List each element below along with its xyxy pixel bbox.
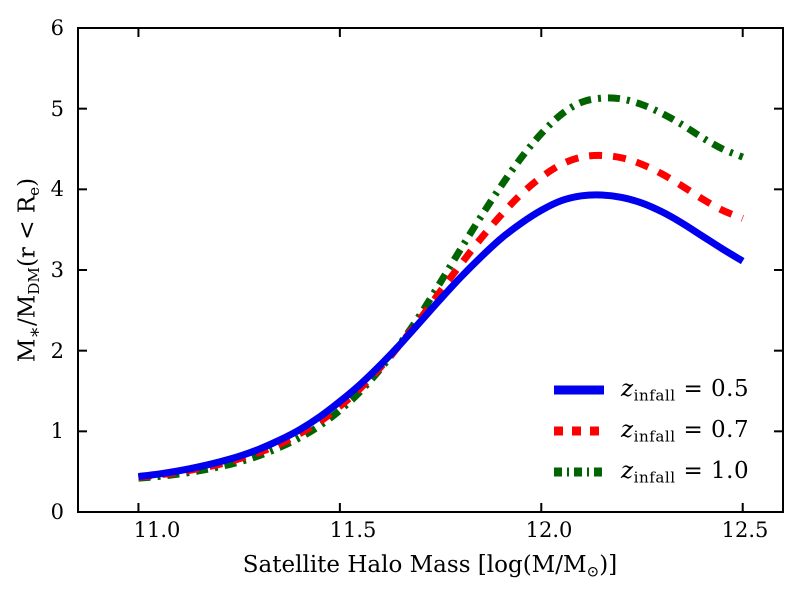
legend-value-2: = 1.0 — [683, 458, 749, 484]
legend-var-2: z — [621, 458, 634, 484]
y-axis-title-rest: (r < R — [15, 196, 41, 267]
xtick-label-12-0: 12.0 — [526, 518, 573, 542]
y-axis-title-close: ) — [15, 178, 41, 187]
x-axis-title: Satellite Halo Mass [log(M/M⊙)] — [243, 552, 617, 580]
ytick-label-6: 6 — [28, 16, 64, 40]
xtick-label-11-5: 11.5 — [330, 518, 377, 542]
x-axis-title-prefix: Satellite Halo Mass [log(M/M — [243, 552, 587, 578]
legend-label-0: zinfall = 0.5 — [621, 376, 749, 404]
legend-sub-2: infall — [634, 468, 676, 486]
legend-entry-2[interactable]: zinfall = 1.0 — [553, 455, 749, 489]
xtick-label-11-0: 11.0 — [134, 518, 181, 542]
ytick-label-1: 1 — [28, 419, 64, 443]
x-axis-title-suffix: )] — [599, 552, 617, 578]
legend-value-1: = 0.7 — [683, 417, 749, 443]
xtick-label-12-5: 12.5 — [722, 518, 769, 542]
figure-canvas: 6 5 4 3 2 1 0 11.0 11.5 12.0 12.5 Satell… — [0, 0, 800, 600]
ytick-label-5: 5 — [28, 97, 64, 121]
legend-label-1: zinfall = 0.7 — [621, 417, 749, 445]
legend-value-0: = 0.5 — [683, 376, 749, 402]
plot-area — [0, 0, 800, 600]
dashdot-line-swatch — [553, 463, 605, 481]
y-axis-title: M∗/MDM(r < Re) — [15, 178, 46, 362]
y-axis-title-slash: /M — [15, 295, 41, 326]
legend-entry-1[interactable]: zinfall = 0.7 — [553, 414, 749, 448]
dashed-line-swatch — [553, 422, 605, 440]
solid-line-swatch — [553, 381, 605, 399]
legend-entry-0[interactable]: zinfall = 0.5 — [553, 373, 749, 407]
legend-sub-1: infall — [634, 427, 676, 445]
sun-symbol-icon: ⊙ — [587, 562, 600, 580]
legend-var-0: z — [621, 376, 634, 402]
legend-label-2: zinfall = 1.0 — [621, 458, 749, 486]
legend-sub-0: infall — [634, 386, 676, 404]
legend-var-1: z — [621, 417, 634, 443]
y-axis-title-m: M — [15, 339, 41, 363]
y-axis-title-dm: DM — [25, 267, 43, 295]
y-axis-title-e: e — [25, 187, 43, 196]
star-symbol-icon: ∗ — [24, 326, 45, 339]
ytick-label-0: 0 — [28, 500, 64, 524]
